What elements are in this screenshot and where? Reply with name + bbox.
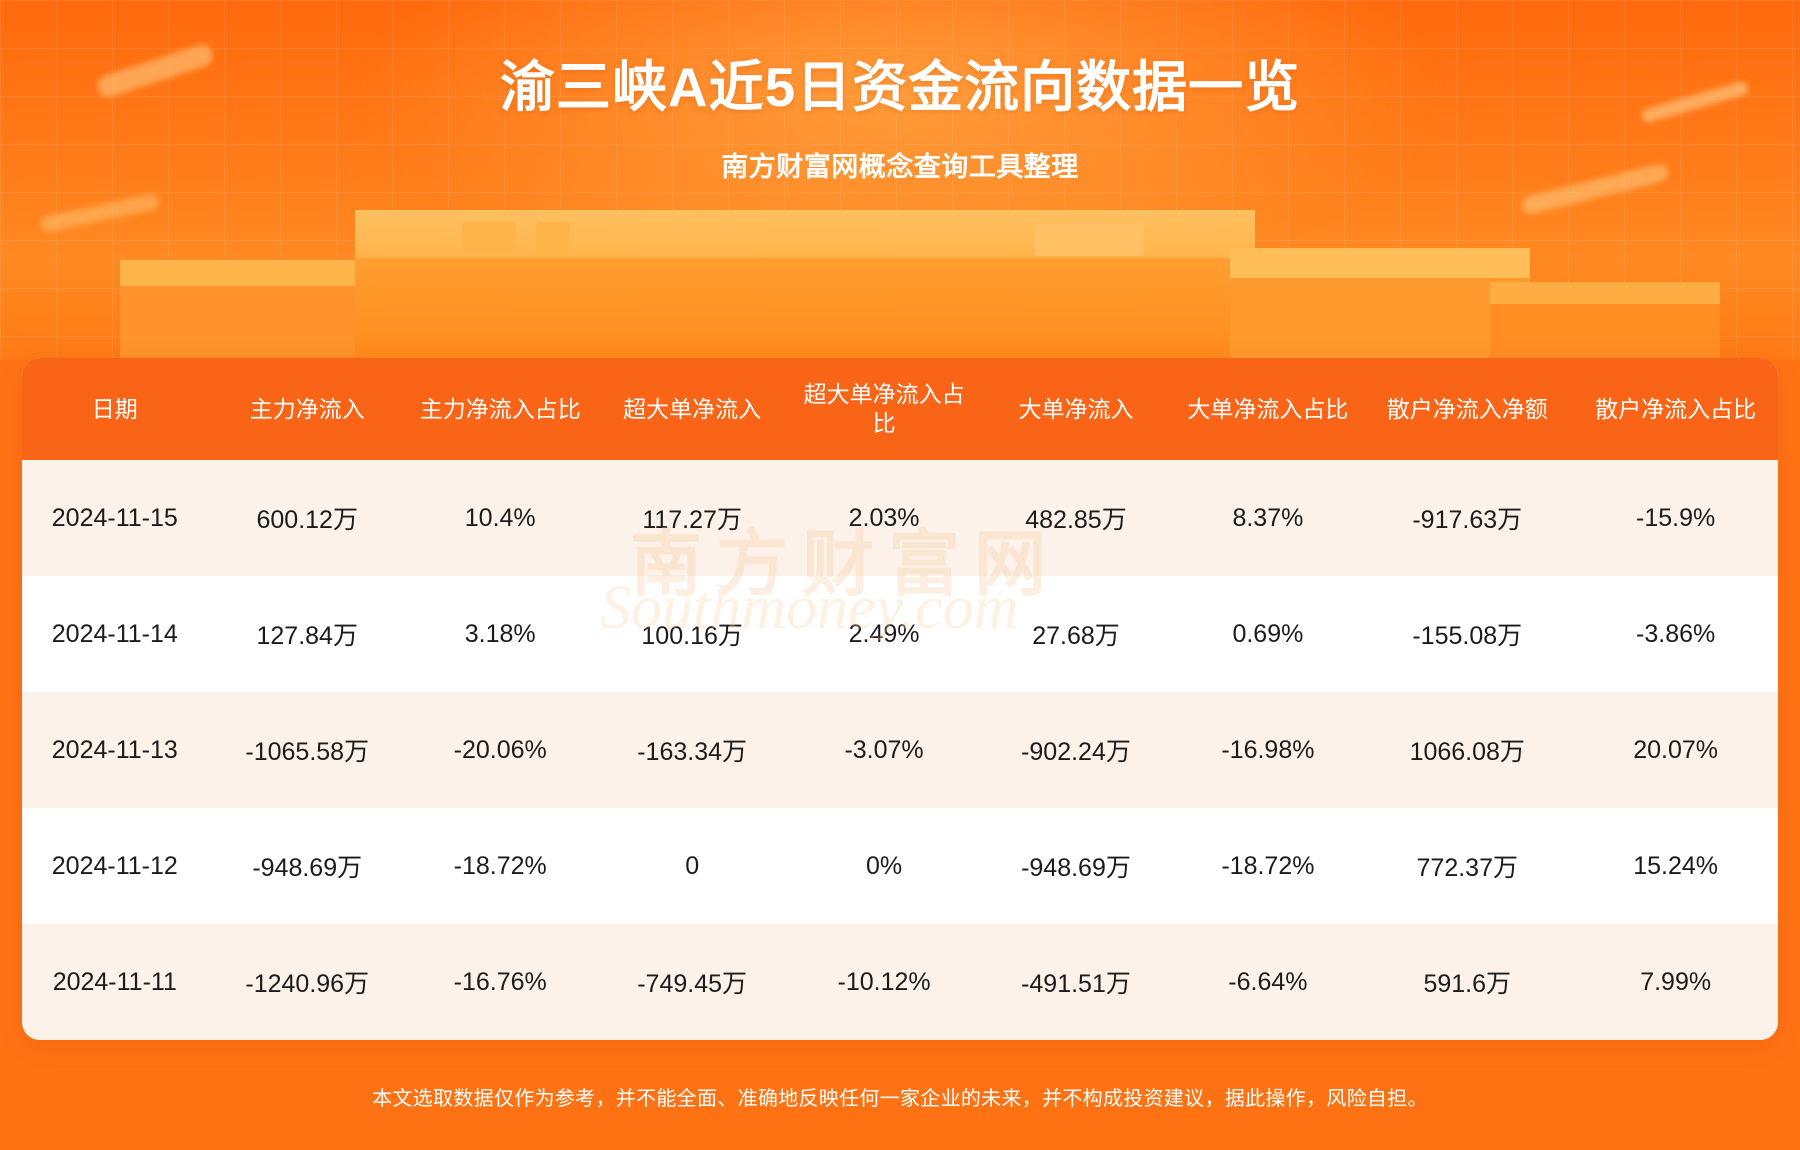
column-header-xl-net: 超大单净流入: [594, 358, 791, 460]
column-header-lg-pct: 大单净流入占比: [1175, 358, 1362, 460]
column-header-xl-pct: 超大单净流入占比: [791, 358, 978, 460]
cell-main-net: 600.12万: [208, 460, 407, 576]
podium-block-far-right: [1490, 282, 1720, 360]
cell-lg-net: 27.68万: [977, 576, 1174, 692]
data-table-card: 日期 主力净流入 主力净流入占比 超大单净流入 超大单净流入占比 大单净流入 大…: [22, 358, 1778, 1040]
cell-main-net: 127.84万: [208, 576, 407, 692]
column-header-main-pct: 主力净流入占比: [407, 358, 594, 460]
column-header-lg-net: 大单净流入: [977, 358, 1174, 460]
cell-lg-net: 482.85万: [977, 460, 1174, 576]
table-header-row: 日期 主力净流入 主力净流入占比 超大单净流入 超大单净流入占比 大单净流入 大…: [22, 358, 1778, 460]
cell-date: 2024-11-14: [22, 576, 208, 692]
fund-flow-table: 日期 主力净流入 主力净流入占比 超大单净流入 超大单净流入占比 大单净流入 大…: [22, 358, 1778, 1040]
podium-block-left: [120, 260, 390, 360]
table-row: 2024-11-14 127.84万 3.18% 100.16万 2.49% 2…: [22, 576, 1778, 692]
column-header-date: 日期: [22, 358, 208, 460]
cell-date: 2024-11-15: [22, 460, 208, 576]
column-header-main-net: 主力净流入: [208, 358, 407, 460]
cell-retail-pct: 7.99%: [1573, 924, 1778, 1040]
cell-retail-net: 772.37万: [1361, 808, 1573, 924]
cell-xl-pct: -3.07%: [791, 692, 978, 808]
table-row: 2024-11-15 600.12万 10.4% 117.27万 2.03% 4…: [22, 460, 1778, 576]
cell-lg-pct: 8.37%: [1175, 460, 1362, 576]
cell-main-net: -1065.58万: [208, 692, 407, 808]
cell-main-pct: -16.76%: [407, 924, 594, 1040]
cell-xl-net: 100.16万: [594, 576, 791, 692]
cell-main-net: -1240.96万: [208, 924, 407, 1040]
podium-chip: [1034, 222, 1144, 256]
cell-lg-pct: 0.69%: [1175, 576, 1362, 692]
table-row: 2024-11-12 -948.69万 -18.72% 0 0% -948.69…: [22, 808, 1778, 924]
podium-illustration: [0, 180, 1800, 360]
cell-main-pct: -20.06%: [407, 692, 594, 808]
cell-lg-net: -948.69万: [977, 808, 1174, 924]
cell-retail-pct: 15.24%: [1573, 808, 1778, 924]
cell-lg-pct: -18.72%: [1175, 808, 1362, 924]
cell-xl-pct: 2.03%: [791, 460, 978, 576]
table-row: 2024-11-13 -1065.58万 -20.06% -163.34万 -3…: [22, 692, 1778, 808]
cell-date: 2024-11-13: [22, 692, 208, 808]
table-row: 2024-11-11 -1240.96万 -16.76% -749.45万 -1…: [22, 924, 1778, 1040]
column-header-retail-net: 散户净流入净额: [1361, 358, 1573, 460]
cell-retail-pct: -3.86%: [1573, 576, 1778, 692]
hero-banner: 渝三峡A近5日资金流向数据一览 南方财富网概念查询工具整理: [0, 0, 1800, 360]
cell-xl-net: -749.45万: [594, 924, 791, 1040]
cell-date: 2024-11-12: [22, 808, 208, 924]
cell-retail-net: 591.6万: [1361, 924, 1573, 1040]
podium-block-right: [1230, 248, 1530, 360]
cell-xl-pct: -10.12%: [791, 924, 978, 1040]
cell-main-pct: 10.4%: [407, 460, 594, 576]
page-subtitle: 南方财富网概念查询工具整理: [0, 145, 1800, 184]
cell-date: 2024-11-11: [22, 924, 208, 1040]
page-title: 渝三峡A近5日资金流向数据一览: [0, 42, 1800, 122]
cell-main-pct: -18.72%: [407, 808, 594, 924]
cell-lg-net: -902.24万: [977, 692, 1174, 808]
cell-xl-net: 0: [594, 808, 791, 924]
cell-retail-net: 1066.08万: [1361, 692, 1573, 808]
cell-retail-net: -917.63万: [1361, 460, 1573, 576]
podium-chip: [536, 222, 570, 254]
cell-lg-pct: -6.64%: [1175, 924, 1362, 1040]
disclaimer-text: 本文选取数据仅作为参考，并不能全面、准确地反映任何一家企业的未来，并不构成投资建…: [0, 1082, 1800, 1111]
cell-xl-pct: 2.49%: [791, 576, 978, 692]
cell-retail-pct: -15.9%: [1573, 460, 1778, 576]
cell-lg-pct: -16.98%: [1175, 692, 1362, 808]
cell-main-net: -948.69万: [208, 808, 407, 924]
cell-main-pct: 3.18%: [407, 576, 594, 692]
cell-xl-pct: 0%: [791, 808, 978, 924]
podium-chip: [462, 222, 516, 252]
cell-retail-net: -155.08万: [1361, 576, 1573, 692]
cell-retail-pct: 20.07%: [1573, 692, 1778, 808]
cell-xl-net: 117.27万: [594, 460, 791, 576]
column-header-retail-pct: 散户净流入占比: [1573, 358, 1778, 460]
cell-lg-net: -491.51万: [977, 924, 1174, 1040]
cell-xl-net: -163.34万: [594, 692, 791, 808]
